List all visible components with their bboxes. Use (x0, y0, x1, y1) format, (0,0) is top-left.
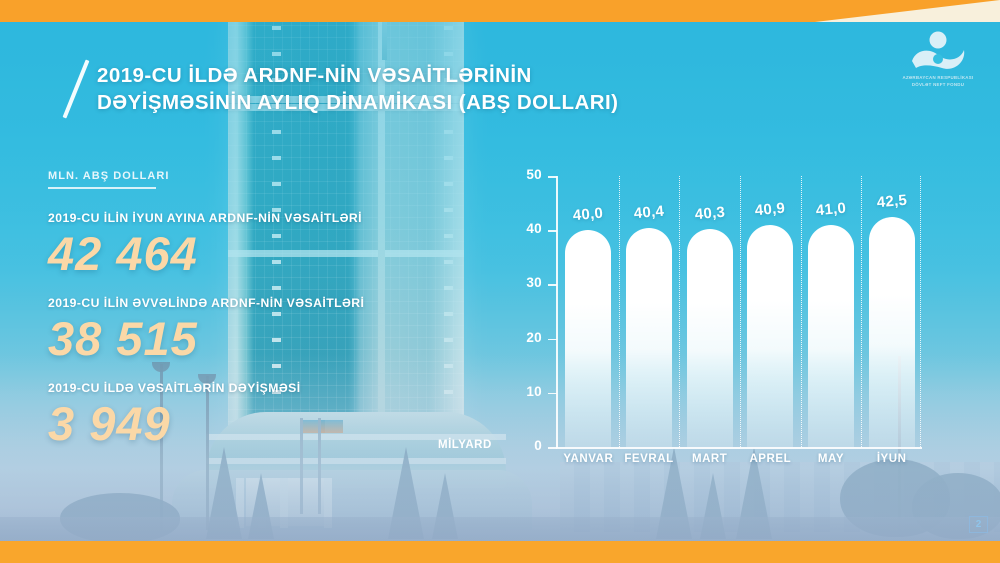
chart-bar (565, 230, 611, 447)
y-axis-tick (548, 284, 557, 286)
chart-bar-fill (869, 217, 915, 447)
chart-bar-fill (565, 230, 611, 447)
page-title-line1: 2019-CU İLDƏ ARDNF-NİN VƏSAİTLƏRİNİN (97, 62, 737, 89)
monthly-assets-bar-chart: MİLYARD 01020304050 40,040,440,340,941,0… (508, 168, 928, 468)
stat-item: 2019-CU İLİN İYUN AYINA ARDNF-NİN VƏSAİT… (48, 211, 448, 283)
y-axis-label: 0 (508, 438, 542, 453)
stats-unit-label: MLN. ABŞ DOLLARI (48, 170, 448, 187)
page-title-line2: DƏYİŞMƏSİNİN AYLIQ DİNAMİKASI (ABŞ DOLLA… (97, 89, 737, 116)
y-axis-tick (548, 393, 557, 395)
x-axis-label: İYUN (852, 453, 932, 465)
y-axis-tick (548, 339, 557, 341)
y-axis-tick (548, 447, 557, 449)
stat-value: 38 515 (48, 310, 448, 368)
logo-text-line1: AZƏRBAYCAN RESPUBLİKASI (886, 75, 990, 81)
y-axis-label: 50 (508, 167, 542, 182)
stat-item: 2019-CU İLİN ƏVVƏLİNDƏ ARDNF-NİN VƏSAİTL… (48, 296, 448, 368)
chart-bar (626, 228, 672, 447)
sofaz-logo-mark (886, 28, 990, 74)
chart-separator (920, 176, 921, 447)
y-axis-label: 30 (508, 275, 542, 290)
chart-x-axis (556, 447, 922, 449)
y-axis-label: 10 (508, 384, 542, 399)
chart-bar-fill (687, 229, 733, 447)
stat-label: 2019-CU İLDƏ VƏSAİTLƏRİN DƏYİŞMƏSİ (48, 381, 448, 395)
chart-plot-area: 40,040,440,340,941,042,5 (558, 176, 922, 447)
chart-bar (747, 225, 793, 447)
bottom-bar (0, 541, 1000, 563)
chart-bar (808, 225, 854, 447)
chart-bar-fill (747, 225, 793, 447)
slide: AZƏRBAYCAN RESPUBLİKASI DÖVLƏT NEFT FOND… (0, 0, 1000, 563)
chart-separator (861, 176, 862, 447)
stat-value: 42 464 (48, 225, 448, 283)
chart-bar-fill (808, 225, 854, 447)
page-title: 2019-CU İLDƏ ARDNF-NİN VƏSAİTLƏRİNİN DƏY… (97, 62, 737, 116)
chart-bar-value-label: 42,5 (856, 190, 927, 213)
y-axis-label: 20 (508, 330, 542, 345)
y-axis-label: 40 (508, 221, 542, 236)
stats-panel: MLN. ABŞ DOLLARI 2019-CU İLİN İYUN AYINA… (48, 170, 448, 466)
top-bar (0, 0, 1000, 22)
top-bar-orange-segment (0, 0, 1000, 22)
y-axis-tick (548, 230, 557, 232)
y-axis-tick (548, 176, 557, 178)
chart-bar (687, 229, 733, 447)
chart-unit-label: MİLYARD (438, 439, 492, 451)
chart-bar-fill (626, 228, 672, 447)
stat-label: 2019-CU İLİN ƏVVƏLİNDƏ ARDNF-NİN VƏSAİTL… (48, 296, 448, 310)
stat-label: 2019-CU İLİN İYUN AYINA ARDNF-NİN VƏSAİT… (48, 211, 448, 225)
logo-text-line2: DÖVLƏT NEFT FONDU (886, 82, 990, 88)
page-number: 2 (969, 516, 988, 533)
stats-unit-rule (48, 187, 156, 189)
chart-bar (869, 217, 915, 447)
stat-value: 3 949 (48, 395, 448, 453)
sofaz-logo: AZƏRBAYCAN RESPUBLİKASI DÖVLƏT NEFT FOND… (886, 28, 990, 88)
stat-item: 2019-CU İLDƏ VƏSAİTLƏRİN DƏYİŞMƏSİ 3 949 (48, 381, 448, 453)
